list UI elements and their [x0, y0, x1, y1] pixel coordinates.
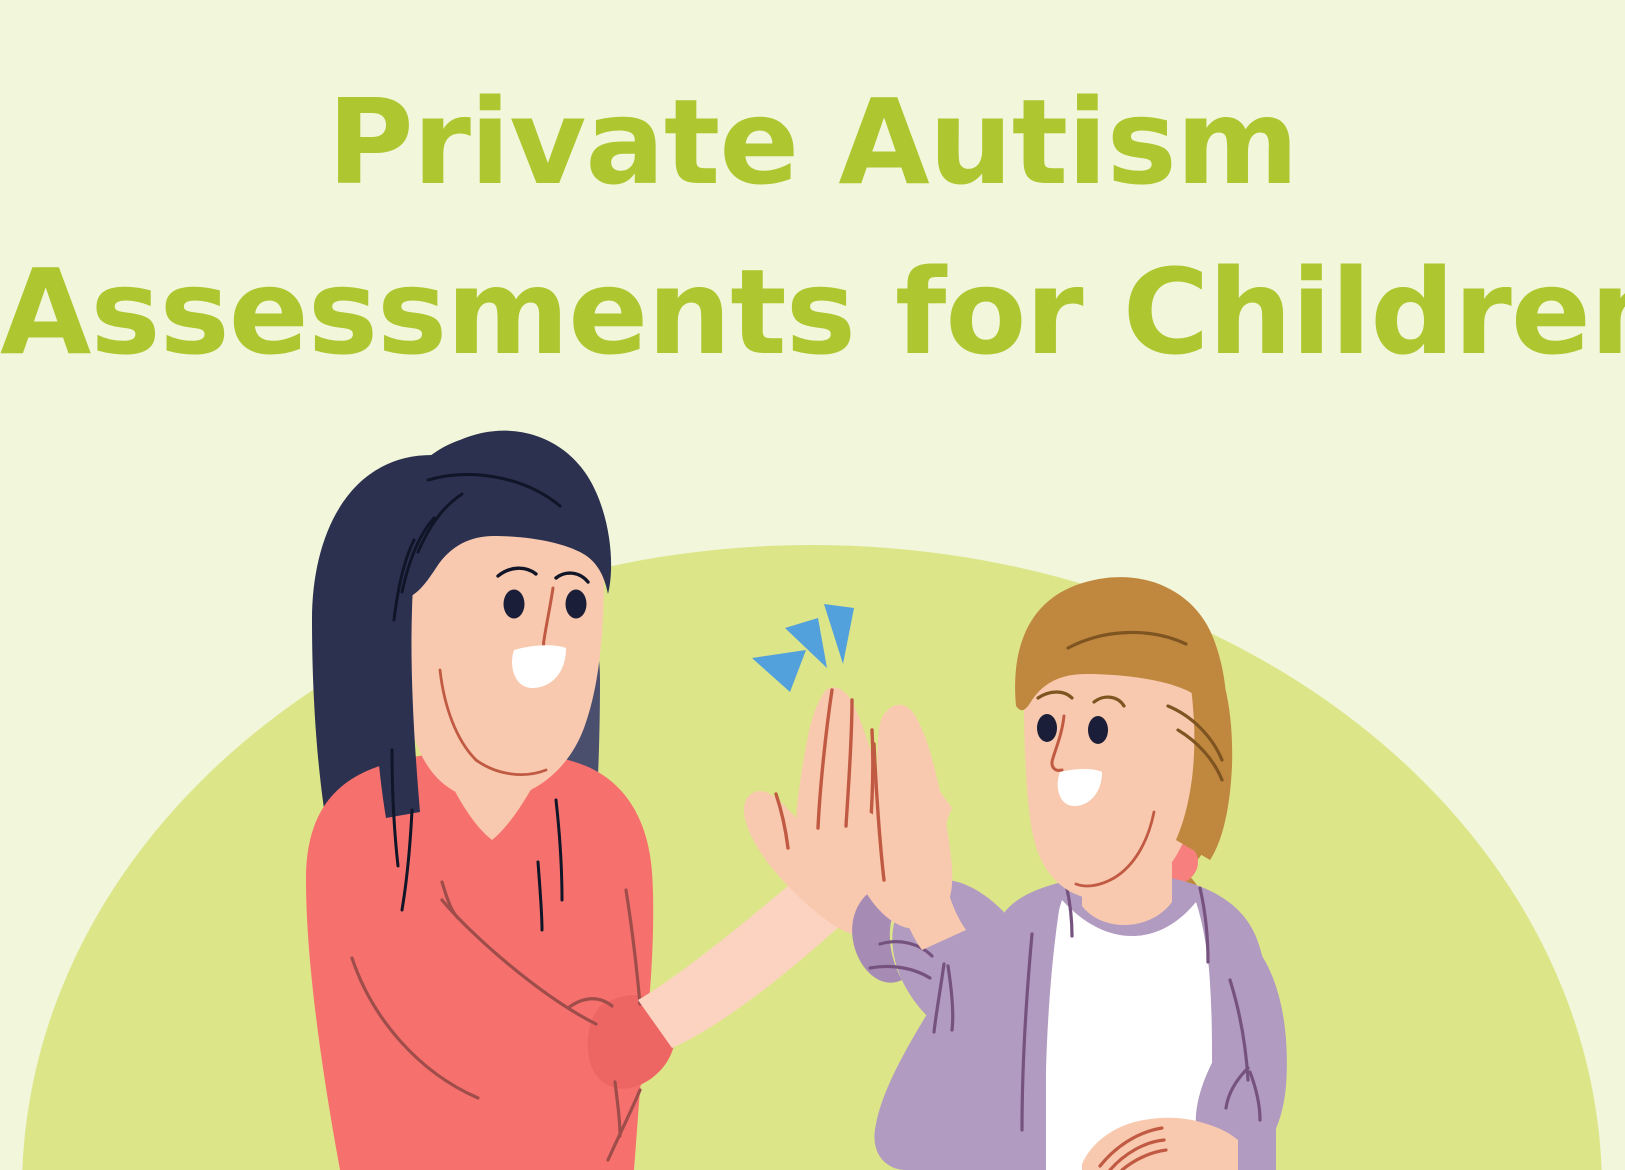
woman-sweater — [306, 742, 675, 1170]
page-title: Private Autism Assessments for Children — [0, 0, 1625, 398]
title-line-2: Assessments for Children — [0, 228, 1625, 398]
banner-page: Private Autism Assessments for Children — [0, 0, 1625, 1170]
title-line-1: Private Autism — [0, 58, 1625, 228]
